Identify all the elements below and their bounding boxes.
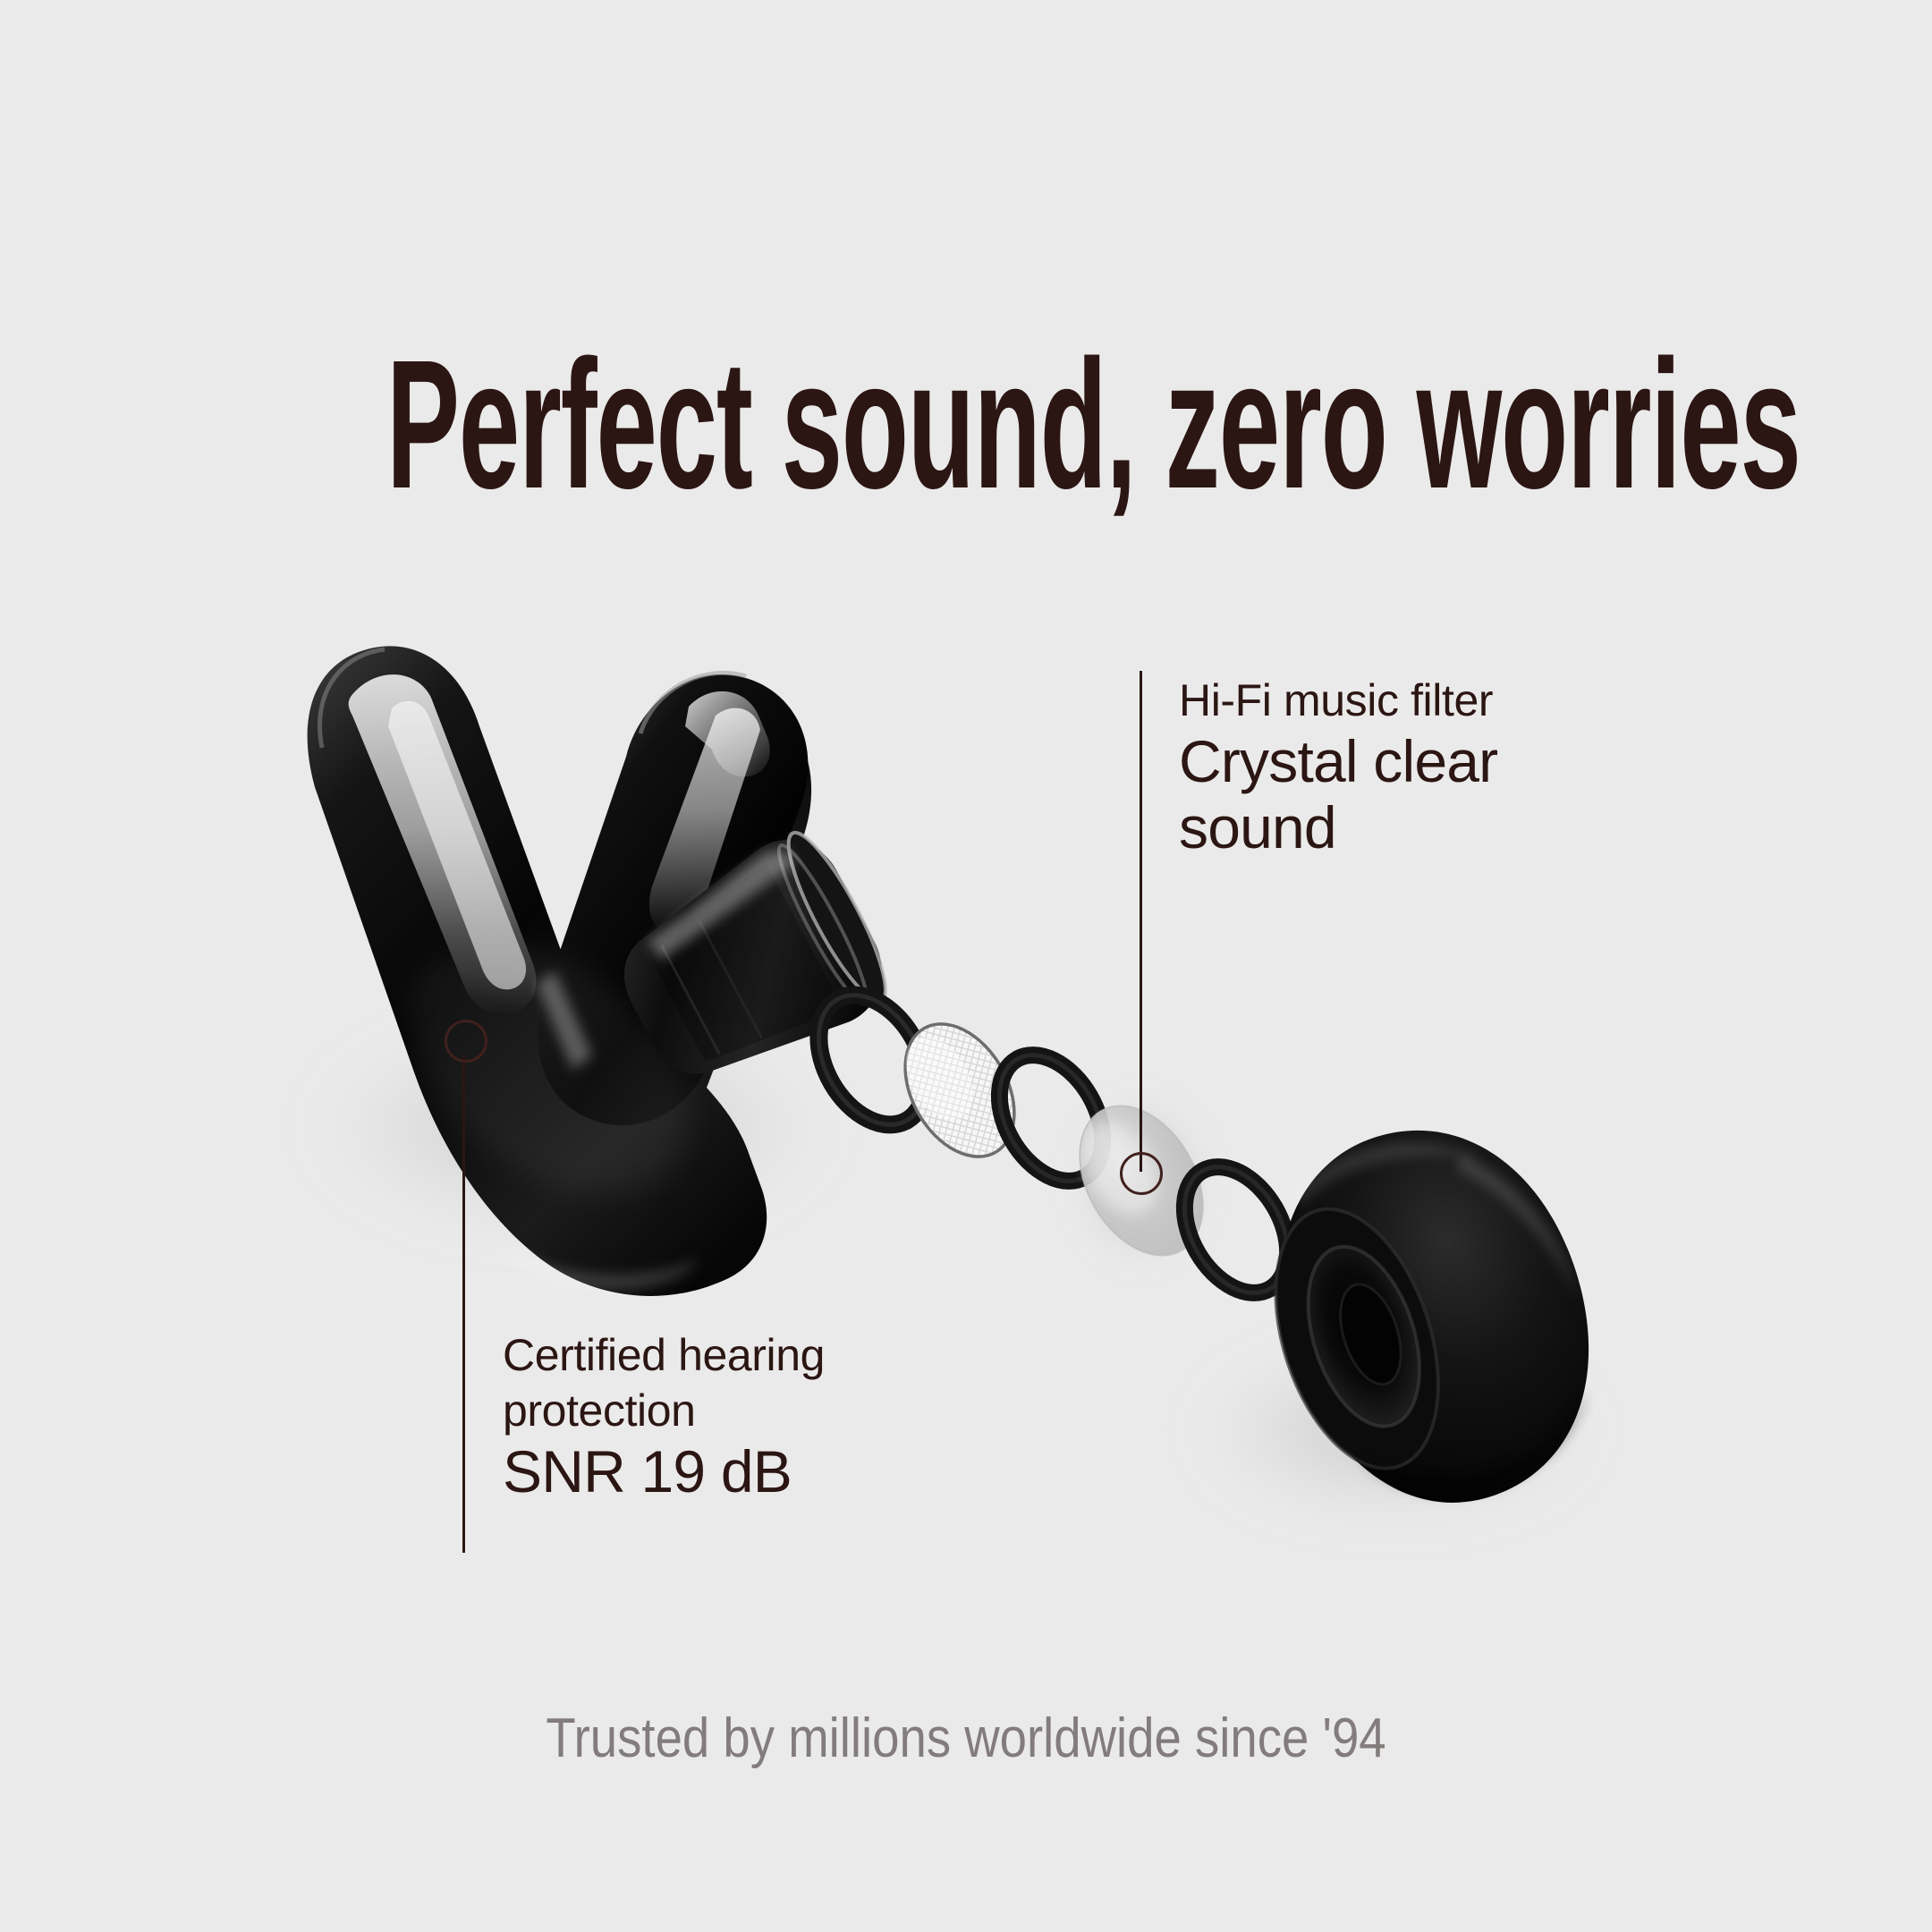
annotation-label-hearing-protection-line1: Certified hearing — [503, 1327, 1075, 1383]
earbud-body — [308, 646, 811, 1296]
annotation-value-hifi-filter-line1: Crystal clear — [1179, 728, 1733, 794]
trust-statement: Trusted by millions worldwide since '94 — [116, 1707, 1817, 1771]
leader-line-hifi-filter — [1140, 671, 1142, 1172]
callout-dot-hifi-filter — [1120, 1152, 1163, 1195]
mesh-filter-disc — [883, 1004, 1037, 1176]
page-title: Perfect sound, zero worries — [386, 333, 1546, 516]
leader-line-hearing-protection — [462, 1054, 465, 1553]
annotation-hifi-filter: Hi-Fi music filter Crystal clear sound — [1179, 673, 1733, 860]
callout-dot-hearing-protection — [445, 1020, 487, 1063]
annotation-value-hearing-protection: SNR 19 dB — [503, 1438, 1075, 1504]
exploded-earbud-diagram — [0, 0, 1932, 1932]
annotation-label-hifi-filter: Hi-Fi music filter — [1179, 673, 1733, 728]
nozzle-stem — [596, 821, 902, 1108]
o-ring-1 — [797, 976, 947, 1143]
annotation-hearing-protection: Certified hearing protection SNR 19 dB — [503, 1327, 1075, 1504]
product-infographic: Perfect sound, zero worries Hi-Fi music … — [0, 0, 1932, 1932]
silicone-ear-tip — [1230, 1091, 1634, 1544]
o-ring-2 — [979, 1037, 1124, 1199]
annotation-value-hifi-filter-line2: sound — [1179, 794, 1733, 860]
o-ring-3 — [1164, 1148, 1309, 1311]
annotation-label-hearing-protection-line2: protection — [503, 1383, 1075, 1438]
